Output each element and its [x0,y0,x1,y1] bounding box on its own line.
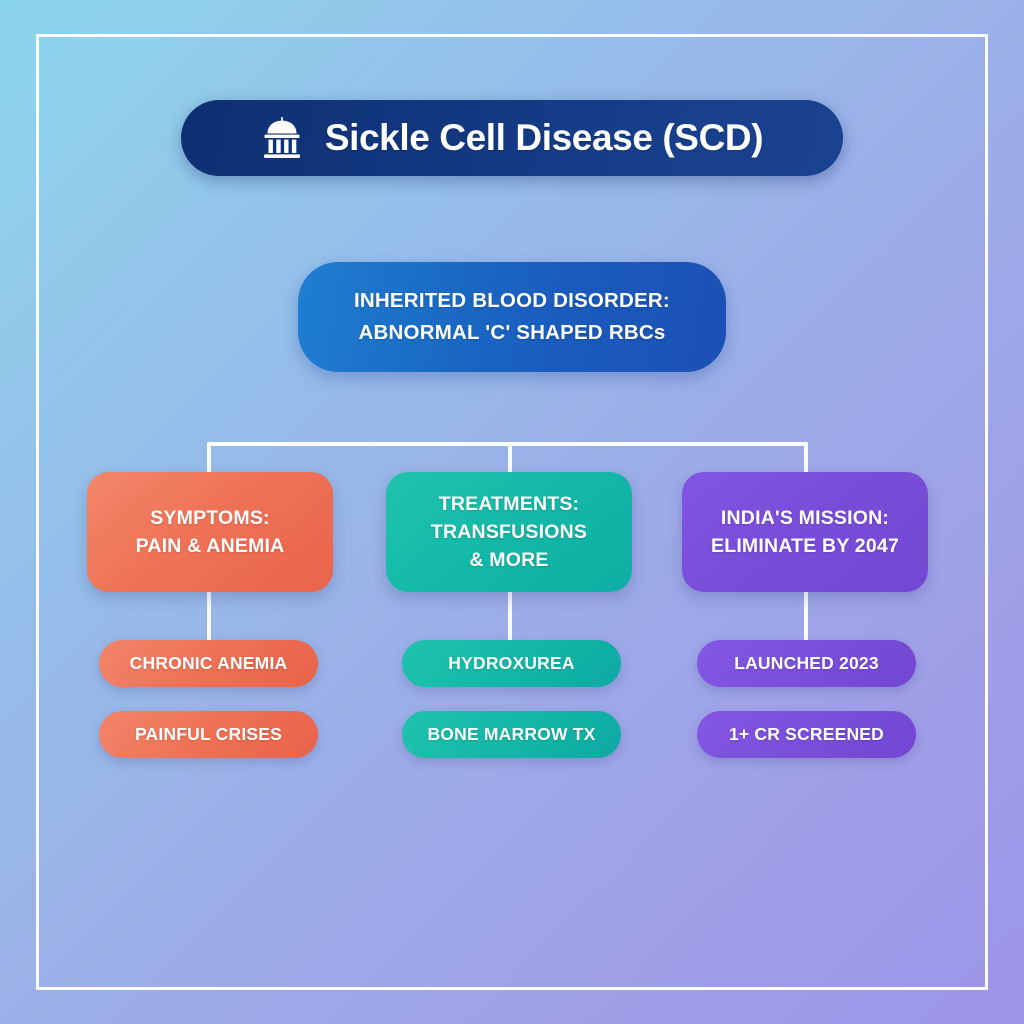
sub-pill-launched-2023-label: LAUNCHED 2023 [734,653,879,674]
branch-treatments-line-2: TRANSFUSIONS [431,518,587,546]
definition-box: INHERITED BLOOD DISORDER: ABNORMAL 'C' S… [298,262,726,372]
connector-stub-branch-mission [804,442,808,474]
government-building-icon [261,116,303,160]
sub-pill-painful-crises: PAINFUL CRISES [99,711,318,758]
branch-card-treatments: TREATMENTS: TRANSFUSIONS & MORE [386,472,632,592]
sub-pill-cr-screened-label: 1+ CR SCREENED [729,724,884,745]
definition-line-1: INHERITED BLOOD DISORDER: [354,285,670,317]
branch-symptoms-line-1: SYMPTOMS: [150,504,270,532]
branch-mission-line-2: ELIMINATE BY 2047 [711,532,899,560]
sub-pill-bone-marrow-tx-label: BONE MARROW TX [427,724,595,745]
definition-line-2: ABNORMAL 'C' SHAPED RBCs [359,317,666,349]
title-banner: Sickle Cell Disease (SCD) [181,100,843,176]
connector-stub-branch-symptoms [207,442,211,474]
sub-pill-launched-2023: LAUNCHED 2023 [697,640,916,687]
sub-pill-chronic-anemia: CHRONIC ANEMIA [99,640,318,687]
sub-pill-chronic-anemia-label: CHRONIC ANEMIA [130,653,288,674]
branch-treatments-line-3: & MORE [469,546,548,574]
sub-pill-cr-screened: 1+ CR SCREENED [697,711,916,758]
sub-pill-painful-crises-label: PAINFUL CRISES [135,724,282,745]
branch-card-symptoms: SYMPTOMS: PAIN & ANEMIA [87,472,333,592]
sub-pill-hydroxurea-label: HYDROXUREA [448,653,574,674]
page-title: Sickle Cell Disease (SCD) [325,117,763,159]
branch-treatments-line-1: TREATMENTS: [439,490,580,518]
sub-pill-bone-marrow-tx: BONE MARROW TX [402,711,621,758]
branch-symptoms-line-2: PAIN & ANEMIA [136,532,285,560]
connector-stub-sub-mission [804,590,808,642]
branch-mission-line-1: INDIA'S MISSION: [721,504,889,532]
infographic-canvas: Sickle Cell Disease (SCD) INHERITED BLOO… [0,0,1024,1024]
connector-stub-branch-treatments [508,442,512,474]
connector-stub-sub-treatments [508,590,512,642]
branch-card-indias-mission: INDIA'S MISSION: ELIMINATE BY 2047 [682,472,928,592]
connector-stub-sub-symptoms [207,590,211,642]
sub-pill-hydroxurea: HYDROXUREA [402,640,621,687]
